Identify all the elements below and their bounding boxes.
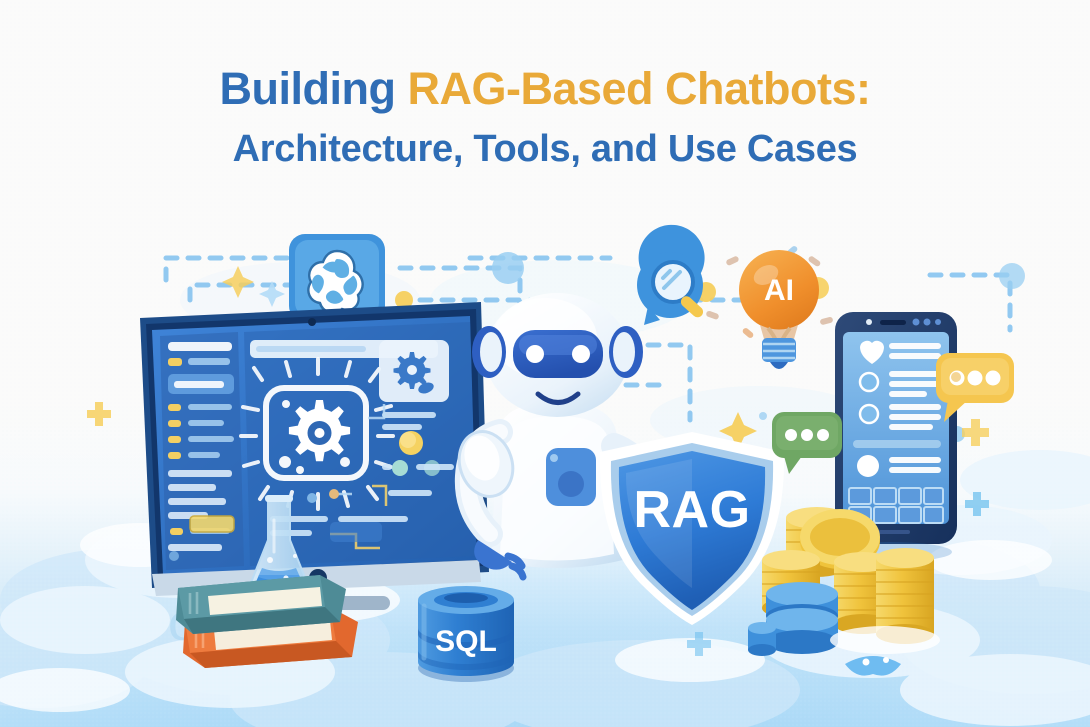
rag-label: RAG bbox=[633, 481, 750, 539]
sql-label: SQL bbox=[435, 625, 497, 658]
sql-database-cylinder: SQL bbox=[418, 586, 514, 682]
book-stack bbox=[176, 575, 358, 668]
desktop-monitor-dashboard bbox=[140, 302, 489, 610]
ai-lightbulb: AI bbox=[739, 250, 819, 369]
illustration-layer: SQL bbox=[0, 0, 1090, 727]
rag-shield: RAG bbox=[600, 432, 784, 625]
ai-label: AI bbox=[764, 274, 794, 307]
dashboard-settings-card bbox=[379, 340, 449, 402]
yellow-chat-bubble bbox=[936, 353, 1014, 422]
hero-illustration-canvas: c Building RAG-Based Chatbots: Architect… bbox=[0, 0, 1090, 727]
dashboard-sidebar bbox=[160, 332, 244, 570]
magnifier-speech-bubble bbox=[637, 225, 705, 325]
